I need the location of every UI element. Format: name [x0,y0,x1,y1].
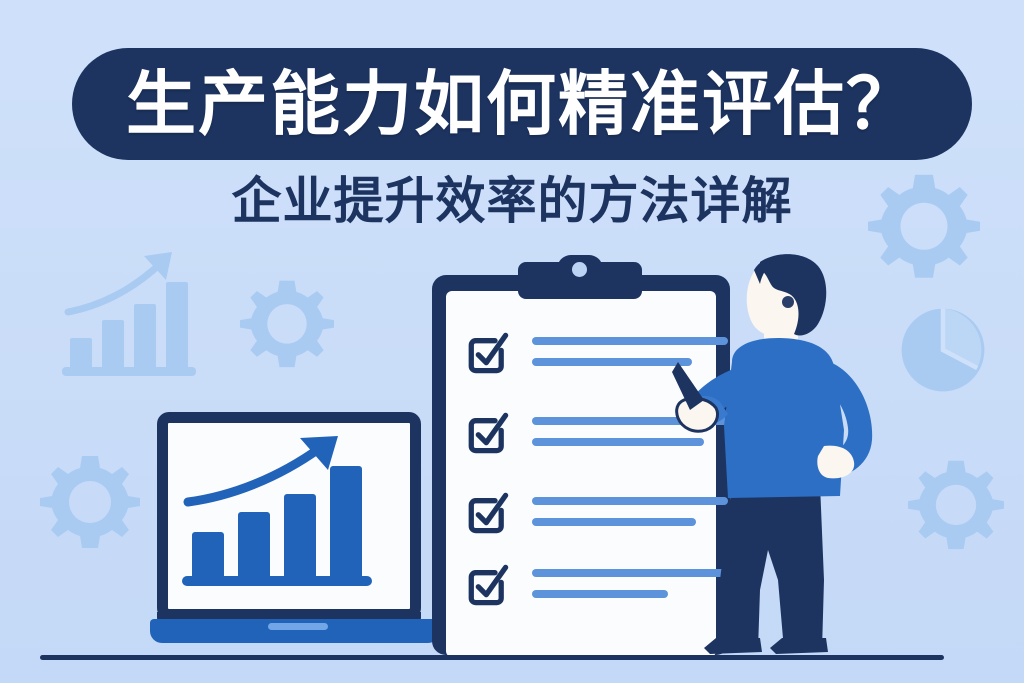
businessman-illustration [672,250,922,660]
checklist-line [532,358,692,366]
gear-watermark-right [908,455,1004,551]
checkbox-checked-icon[interactable] [466,411,510,455]
checkbox-checked-icon[interactable] [466,331,510,375]
gear-watermark-left [40,450,140,550]
ground-line [40,655,944,660]
clipboard-clip-hole [572,262,587,277]
gear-watermark-top-left [240,275,334,369]
checkbox-checked-icon[interactable] [466,491,510,535]
page-subtitle: 企业提升效率的方法详解 [0,176,1024,226]
title-banner: 生产能力如何精准评估？ [72,48,972,160]
laptop-illustration [150,406,450,651]
person-ear [782,296,794,308]
person-trousers [720,484,824,650]
person-shoes [704,638,828,654]
laptop-screen-bar-chart [180,436,390,601]
checkbox-checked-icon[interactable] [466,563,510,607]
poster-canvas: 生产能力如何精准评估？ 企业提升效率的方法详解 [0,0,1024,683]
laptop-trackpad-notch [268,623,328,630]
page-title: 生产能力如何精准评估？ [126,69,918,139]
person-pointing-finger [672,362,704,410]
checklist-line [532,590,668,598]
growth-chart-watermark [60,250,200,380]
